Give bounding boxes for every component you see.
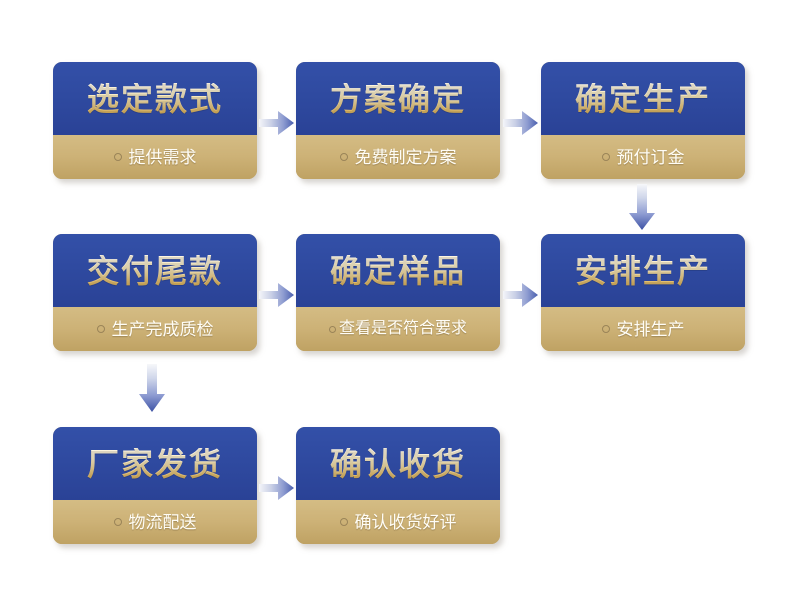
flow-card-step-6[interactable]: 安排生产 安排生产 [541,234,745,351]
card-title-text: 选定款式 [87,83,223,115]
card-subtitle-text: 预付订金 [617,149,685,166]
arrow-right-step5-step6 [503,280,539,310]
arrow-right-step7-step8 [259,473,295,503]
card-body: 确定生产 预付订金 [541,62,745,179]
circle-bullet-icon [97,325,105,333]
card-subtitle-section: 安排生产 [541,307,745,351]
card-subtitle-section: 生产完成质检 [53,307,257,351]
card-subtitle-section: 预付订金 [541,135,745,179]
card-title-section: 安排生产 [541,234,745,307]
circle-bullet-icon [602,153,610,161]
arrow-down-step3-step6 [626,184,658,232]
circle-bullet-icon [114,153,122,161]
card-body: 确认收货 确认收货好评 [296,427,500,544]
card-title-text: 安排生产 [575,255,711,287]
flow-card-step-3[interactable]: 确定生产 预付订金 [541,62,745,179]
flow-card-step-2[interactable]: 方案确定 免费制定方案 [296,62,500,179]
card-title-text: 确定样品 [330,255,466,287]
card-title-section: 方案确定 [296,62,500,135]
flowchart-canvas: 选定款式 提供需求 方案确定 免费制定方案 确定生产 预付 [0,0,790,594]
card-title-text: 方案确定 [330,83,466,115]
card-subtitle-text: 确认收货好评 [355,514,457,531]
card-title-text: 确定生产 [575,83,711,115]
arrow-right-step1-step2 [259,108,295,138]
card-subtitle-section: 查看是否符合要求 [296,307,500,351]
card-body: 选定款式 提供需求 [53,62,257,179]
circle-bullet-icon [114,518,122,526]
circle-bullet-icon [340,518,348,526]
card-title-section: 确认收货 [296,427,500,500]
card-subtitle-text: 生产完成质检 [112,321,214,338]
card-body: 厂家发货 物流配送 [53,427,257,544]
circle-bullet-icon [329,326,336,333]
card-subtitle-text: 物流配送 [129,514,197,531]
card-title-section: 确定样品 [296,234,500,307]
card-subtitle-text: 安排生产 [617,321,685,338]
card-subtitle-section: 物流配送 [53,500,257,544]
card-title-section: 厂家发货 [53,427,257,500]
card-title-text: 交付尾款 [87,255,223,287]
card-body: 交付尾款 生产完成质检 [53,234,257,351]
card-title-section: 确定生产 [541,62,745,135]
card-subtitle-section: 确认收货好评 [296,500,500,544]
card-title-text: 确认收货 [330,448,466,480]
flow-card-step-4[interactable]: 交付尾款 生产完成质检 [53,234,257,351]
flow-card-step-7[interactable]: 厂家发货 物流配送 [53,427,257,544]
card-subtitle-section: 提供需求 [53,135,257,179]
card-subtitle-section: 免费制定方案 [296,135,500,179]
card-title-section: 选定款式 [53,62,257,135]
card-body: 确定样品 查看是否符合要求 [296,234,500,351]
card-subtitle-text: 免费制定方案 [355,149,457,166]
circle-bullet-icon [602,325,610,333]
card-title-section: 交付尾款 [53,234,257,307]
card-subtitle-text: 查看是否符合要求 [339,321,467,337]
arrow-down-step4-step7 [136,364,168,414]
card-title-text: 厂家发货 [87,448,223,480]
flow-card-step-1[interactable]: 选定款式 提供需求 [53,62,257,179]
card-body: 方案确定 免费制定方案 [296,62,500,179]
card-subtitle-text: 提供需求 [129,149,197,166]
flow-card-step-5[interactable]: 确定样品 查看是否符合要求 [296,234,500,351]
arrow-right-step4-step5 [259,280,295,310]
arrow-right-step2-step3 [503,108,539,138]
card-body: 安排生产 安排生产 [541,234,745,351]
flow-card-step-8[interactable]: 确认收货 确认收货好评 [296,427,500,544]
circle-bullet-icon [340,153,348,161]
